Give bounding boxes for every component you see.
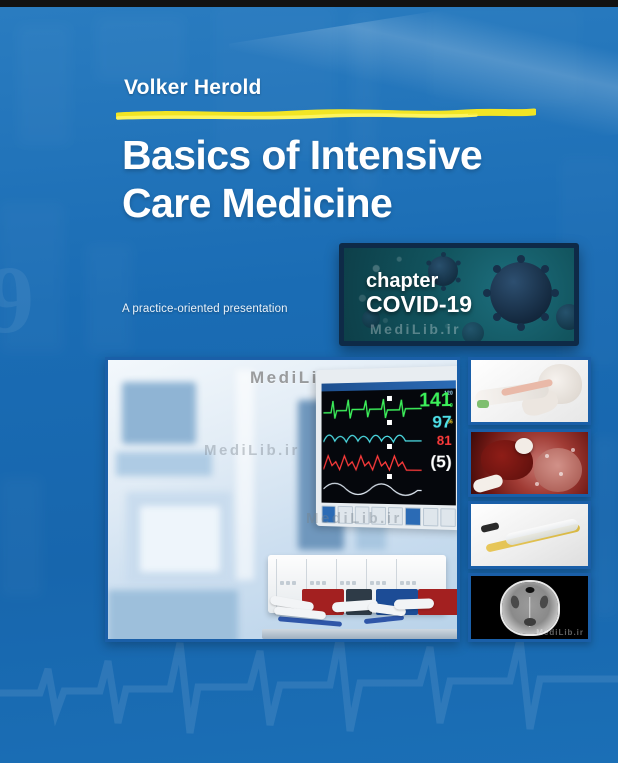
pressure-value: (5) (386, 453, 452, 471)
virus-particle-icon (490, 262, 552, 324)
title-line-1: Basics of Intensive (122, 132, 592, 180)
infusion-pump-stack (268, 547, 460, 639)
photo-watermark-secondary: MediLib.ir (204, 442, 300, 459)
book-cover: 9 Volker Herold Basics of Intensive Care… (0, 0, 618, 763)
virus-particle-icon (556, 304, 579, 330)
covid-badge-line-2: COVID-19 (366, 292, 472, 318)
covid-badge-line-1: chapter (366, 270, 472, 292)
highlighter-stroke (116, 107, 536, 123)
respiration-waveform-white (323, 473, 421, 500)
pump-base-shelf (262, 629, 460, 639)
blue-tubing (364, 615, 404, 624)
thumbnail-endoscopic-view (468, 429, 591, 497)
heart-rate-value: 141 (386, 391, 452, 411)
title-line-2: Care Medicine (122, 180, 592, 228)
page-title: Basics of Intensive Care Medicine (122, 132, 592, 227)
monitor-vitals-panel: 141 97 81 (5) (386, 391, 452, 471)
photo-watermark-tertiary: MediLib.ir (306, 510, 402, 527)
thumbnail-watermark: MediLib.ir (536, 628, 584, 637)
subtitle: A practice-oriented presentation (122, 303, 288, 315)
main-photo-icu: MediLib.ir MediLib.ir (105, 357, 460, 642)
virus-particle-icon (462, 322, 484, 344)
secondary-vital-value: 81 (386, 434, 452, 447)
thumbnail-brain-ct: MediLib.ir (468, 573, 591, 642)
thumbnail-airway-intubation (468, 357, 591, 425)
author-name: Volker Herold (124, 76, 262, 100)
background-glyph: 9 (0, 252, 34, 348)
top-edge-strip (0, 0, 618, 7)
covid-chapter-badge: chapter COVID-19 MediLib.ir (339, 243, 579, 346)
spo2-value: 97 (386, 413, 452, 431)
thumbnail-catheter-device (468, 501, 591, 569)
iv-tubing (394, 598, 434, 609)
monitor-screen: 120 9 36 141 97 81 (5) (322, 380, 456, 505)
covid-watermark: MediLib.ir (370, 321, 461, 337)
covid-badge-text: chapter COVID-19 (366, 270, 472, 318)
patient-monitor: 120 9 36 141 97 81 (5) (316, 366, 460, 531)
